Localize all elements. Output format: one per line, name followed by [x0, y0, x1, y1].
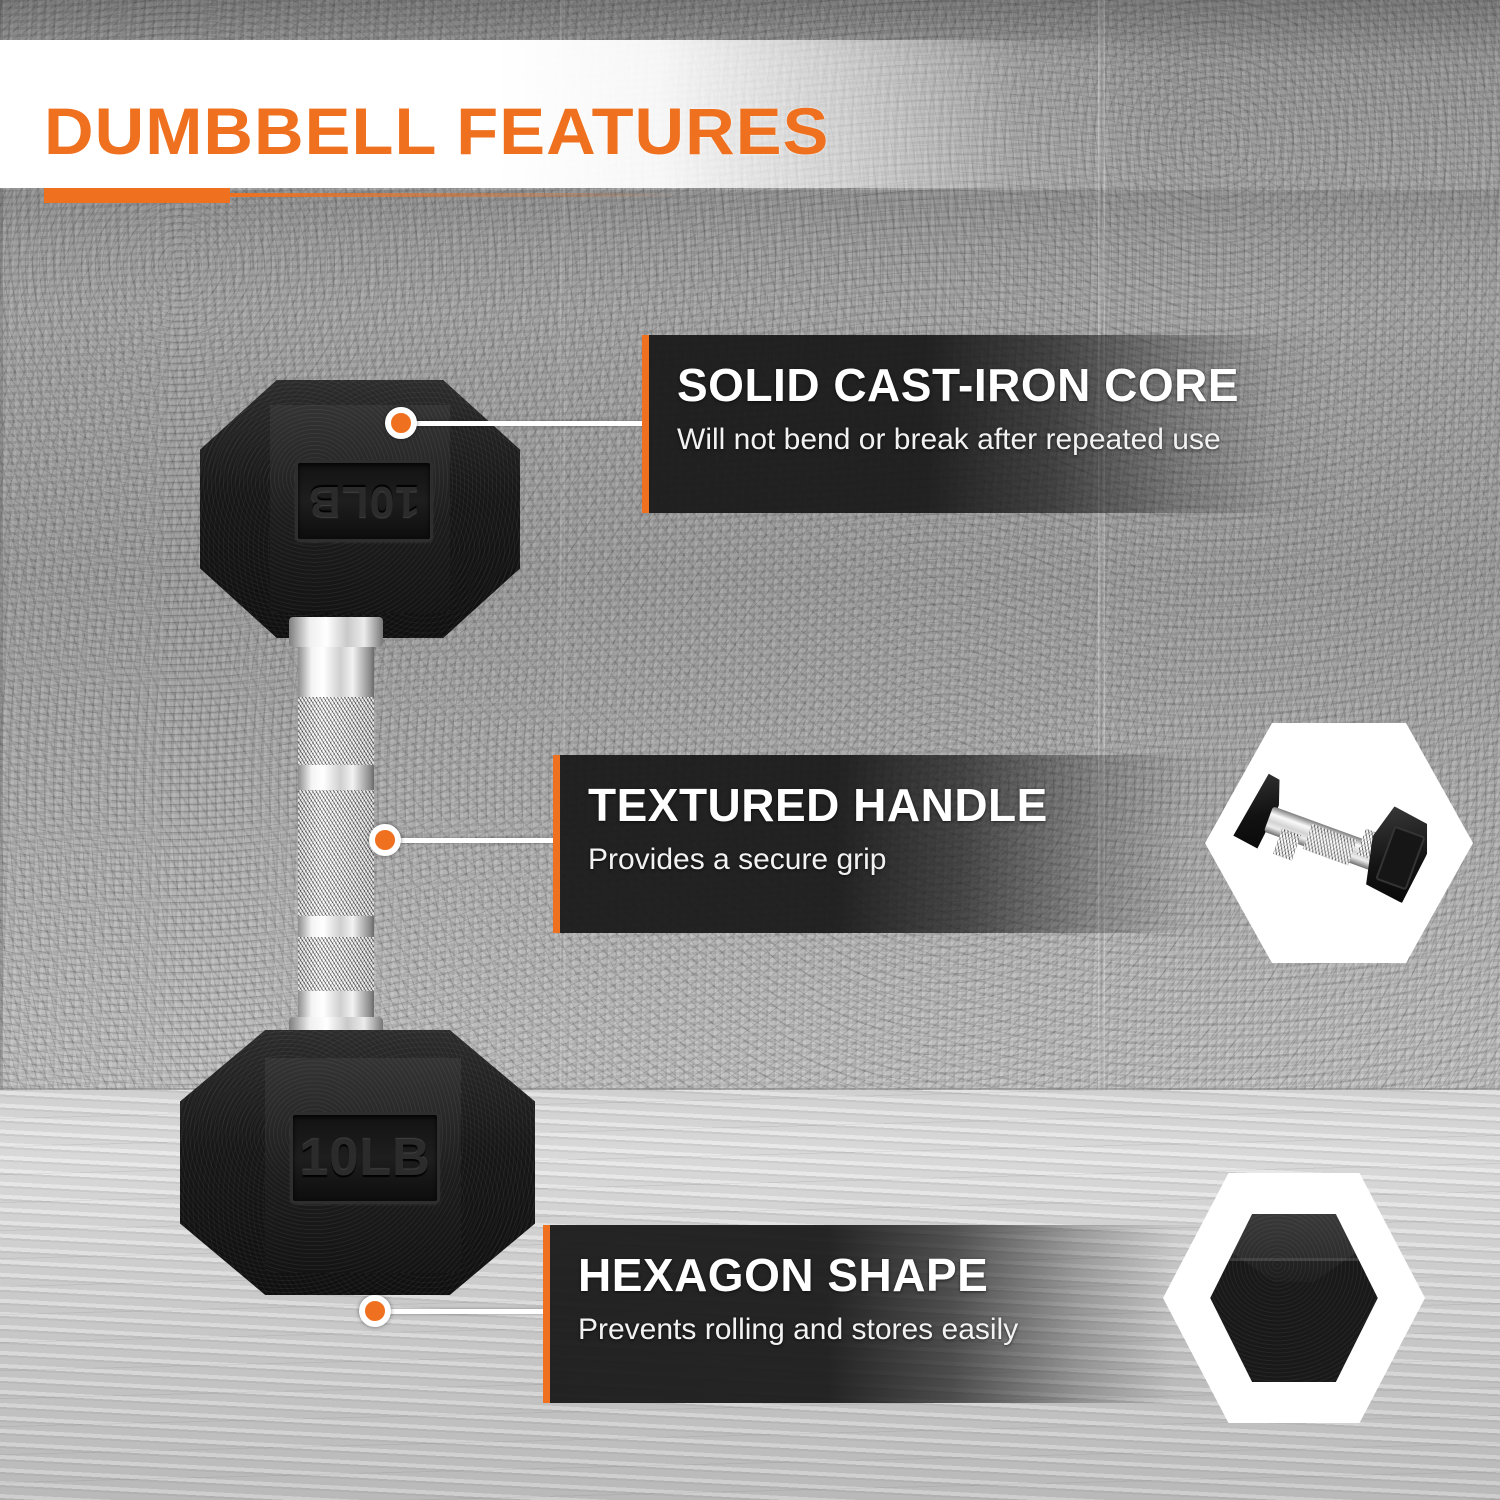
- callout-title: TEXTURED HANDLE: [588, 781, 1253, 831]
- knurl-band: [298, 790, 374, 916]
- feature-callout-textured-handle[interactable]: TEXTURED HANDLE Provides a secure grip: [553, 755, 1253, 933]
- hotspot-dot-handle[interactable]: [369, 824, 401, 856]
- dumbbell-product-image: 10LB 10LB: [175, 370, 545, 1290]
- feature-callout-solid-cast-iron-core[interactable]: SOLID CAST-IRON CORE Will not bend or br…: [642, 335, 1342, 513]
- top-weight-plate: 10LB: [295, 460, 433, 542]
- hotspot-dot-core[interactable]: [385, 407, 417, 439]
- callout-accent-bar: [543, 1225, 550, 1403]
- inset-hexagon-endcap: [1163, 1173, 1425, 1423]
- connector-line-core: [404, 421, 648, 426]
- handle-collar-top: [289, 617, 383, 647]
- hexagon-endcap-seam: [1230, 1258, 1359, 1261]
- callout-body: SOLID CAST-IRON CORE Will not bend or br…: [649, 335, 1342, 513]
- callout-subtitle: Will not bend or break after repeated us…: [677, 423, 1342, 457]
- knurl-band: [298, 697, 374, 765]
- page-title: DUMBBELL FEATURES: [44, 93, 829, 169]
- connector-line-hexagon: [378, 1309, 550, 1314]
- callout-title: SOLID CAST-IRON CORE: [677, 361, 1342, 411]
- feature-callout-hexagon-shape[interactable]: HEXAGON SHAPE Prevents rolling and store…: [543, 1225, 1243, 1403]
- callout-accent-bar: [642, 335, 649, 513]
- bottom-weight-plate: 10LB: [290, 1112, 440, 1204]
- header-banner: DUMBBELL FEATURES: [0, 40, 1500, 188]
- title-underline-thin: [230, 193, 680, 197]
- wall-shadow-band: [0, 190, 1500, 310]
- callout-title: HEXAGON SHAPE: [578, 1251, 1243, 1301]
- knurl-band: [298, 937, 374, 991]
- inset-handle-closeup: [1205, 723, 1473, 963]
- bottom-weight-label: 10LB: [299, 1128, 430, 1188]
- callout-subtitle: Prevents rolling and stores easily: [578, 1313, 1243, 1347]
- handle-inset-knurl: [1303, 824, 1358, 866]
- top-weight-label: 10LB: [308, 476, 420, 526]
- callout-subtitle: Provides a secure grip: [588, 843, 1253, 877]
- callout-accent-bar: [553, 755, 560, 933]
- hotspot-dot-hexagon[interactable]: [359, 1295, 391, 1327]
- callout-body: HEXAGON SHAPE Prevents rolling and store…: [550, 1225, 1243, 1403]
- dumbbell-handle: [298, 625, 374, 1045]
- callout-body: TEXTURED HANDLE Provides a secure grip: [560, 755, 1253, 933]
- connector-line-handle: [388, 838, 560, 843]
- title-underline-thick: [44, 188, 230, 203]
